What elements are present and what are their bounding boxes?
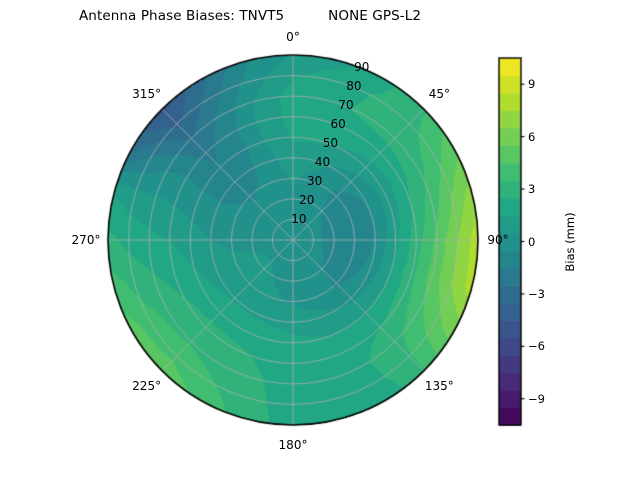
figure-canvas-container: Antenna Phase Biases: TNVT5 NONE GPS-L2 … — [0, 0, 640, 480]
polar-heatmap-canvas — [0, 0, 640, 480]
